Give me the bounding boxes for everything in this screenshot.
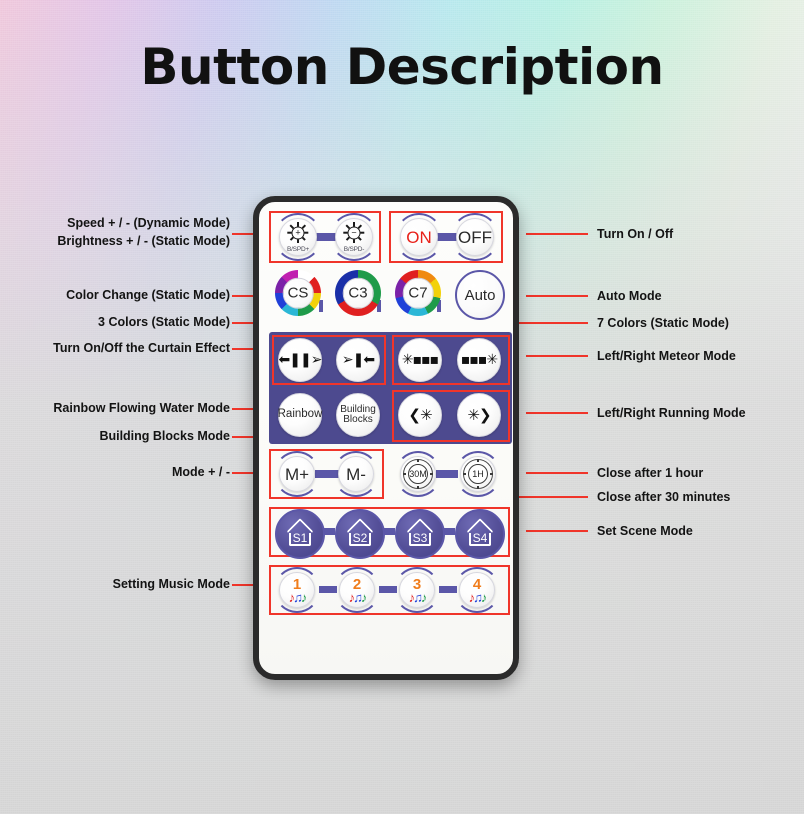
music-note-icon: ♪♫♪ [469,591,486,604]
label-close-after-30min: Close after 30 minutes [597,490,730,504]
label-speed-dynamic: Speed + / - (Dynamic Mode) [20,216,230,230]
label-color-change: Color Change (Static Mode) [20,288,230,302]
label-running-mode: Left/Right Running Mode [597,406,746,420]
button-mode-minus[interactable]: M- [338,456,374,492]
arrows-outward-icon: ⬅❚❚➢ [279,353,322,367]
button-label: C3 [343,278,374,309]
label-building-blocks: Building Blocks Mode [20,429,230,443]
chevron-left-star-icon: ❮✳ [408,408,431,423]
label-turn-on-off: Turn On / Off [597,227,673,241]
button-label: ON [406,229,432,246]
music-note-icon: ♪♫♪ [349,591,366,604]
button-label: OFF [458,229,492,246]
sun-plus-icon: + [287,222,309,244]
house-icon: S1 [287,522,313,546]
star-chevron-right-icon: ✳❯ [467,408,490,423]
house-icon: S2 [347,522,373,546]
button-music-3[interactable]: 3 ♪♫♪ [399,572,435,608]
label-set-scene-mode: Set Scene Mode [597,524,693,538]
label-meteor-mode: Left/Right Meteor Mode [597,349,736,363]
button-label: S2 [347,532,373,545]
leader-line-auto-mode [526,295,588,297]
key-connector [319,300,323,312]
star-trail-right-icon: ✳▪▪▪ [402,353,438,367]
button-label: S3 [407,532,433,545]
button-on[interactable]: ON [400,218,438,256]
button-scene-1[interactable]: S1 [275,509,325,559]
button-caption: B/SPD- [344,246,364,253]
button-scene-2[interactable]: S2 [335,509,385,559]
music-note-icon: ♪♫♪ [289,591,306,604]
button-label: C7 [403,278,434,309]
button-off[interactable]: OFF [456,218,494,256]
button-label: M+ [285,466,309,483]
button-b-spd-plus[interactable]: + B/SPD+ [279,218,317,256]
label-three-colors: 3 Colors (Static Mode) [20,315,230,329]
label-curtain-effect: Turn On/Off the Curtain Effect [6,341,230,355]
label-seven-colors: 7 Colors (Static Mode) [597,316,729,330]
button-run-left[interactable]: ❮✳ [398,393,442,437]
label-close-after-1h: Close after 1 hour [597,466,703,480]
arrows-inward-icon: ➢❚⬅ [342,353,374,367]
button-mode-plus[interactable]: M+ [279,456,315,492]
button-label: M- [346,466,366,483]
button-b-spd-minus[interactable]: − B/SPD- [335,218,373,256]
clock-30m-icon: 30M [403,459,433,489]
button-label: Auto [465,287,496,304]
button-timer-30m[interactable]: 30M [400,456,436,492]
music-note-icon: ♪♫♪ [409,591,426,604]
button-run-right[interactable]: ✳❯ [457,393,501,437]
leader-line-turn-on-off [526,233,588,235]
button-label-line2: Blocks [343,415,372,425]
button-music-4[interactable]: 4 ♪♫♪ [459,572,495,608]
clock-1h-icon: 1H [463,459,493,489]
button-building-blocks[interactable]: Building Blocks [336,393,380,437]
button-caption: B/SPD+ [287,246,309,253]
leader-line-running [526,412,588,414]
button-meteor-left[interactable]: ▪▪▪✳ [457,338,501,382]
button-music-1[interactable]: 1 ♪♫♪ [279,572,315,608]
button-label: Rainbow [278,409,323,421]
button-label: S4 [467,532,493,545]
button-rainbow[interactable]: Rainbow [278,393,322,437]
button-scene-4[interactable]: S4 [455,509,505,559]
button-meteor-right[interactable]: ✳▪▪▪ [398,338,442,382]
leader-line-close-1h [526,472,588,474]
button-curtain-close[interactable]: ➢❚⬅ [336,338,380,382]
button-music-2[interactable]: 2 ♪♫♪ [339,572,375,608]
page-title: Button Description [0,38,804,96]
button-label: S1 [287,532,313,545]
remote-control-body: + B/SPD+ − B/SPD- ON OFF CS C3 C7 Auto ⬅… [253,196,519,680]
star-trail-left-icon: ▪▪▪✳ [461,353,497,367]
label-mode-plus-minus: Mode + / - [20,465,230,479]
house-icon: S3 [407,522,433,546]
button-label: 1H [472,469,484,479]
label-brightness-static: Brightness + / - (Static Mode) [8,234,230,248]
button-label: 30M [409,469,427,479]
button-cs-color-wheel[interactable]: CS [275,270,321,316]
button-auto[interactable]: Auto [455,270,505,320]
button-scene-3[interactable]: S3 [395,509,445,559]
button-curtain-open[interactable]: ⬅❚❚➢ [278,338,322,382]
leader-line-meteor [526,355,588,357]
button-label: CS [283,278,314,309]
sun-minus-icon: − [343,222,365,244]
button-timer-1h[interactable]: 1H [460,456,496,492]
label-rainbow-flowing: Rainbow Flowing Water Mode [6,401,230,415]
leader-line-set-scene [526,530,588,532]
house-icon: S4 [467,522,493,546]
label-setting-music: Setting Music Mode [20,577,230,591]
button-c7-color-wheel[interactable]: C7 [395,270,441,316]
button-c3-color-wheel[interactable]: C3 [335,270,381,316]
label-auto-mode: Auto Mode [597,289,662,303]
